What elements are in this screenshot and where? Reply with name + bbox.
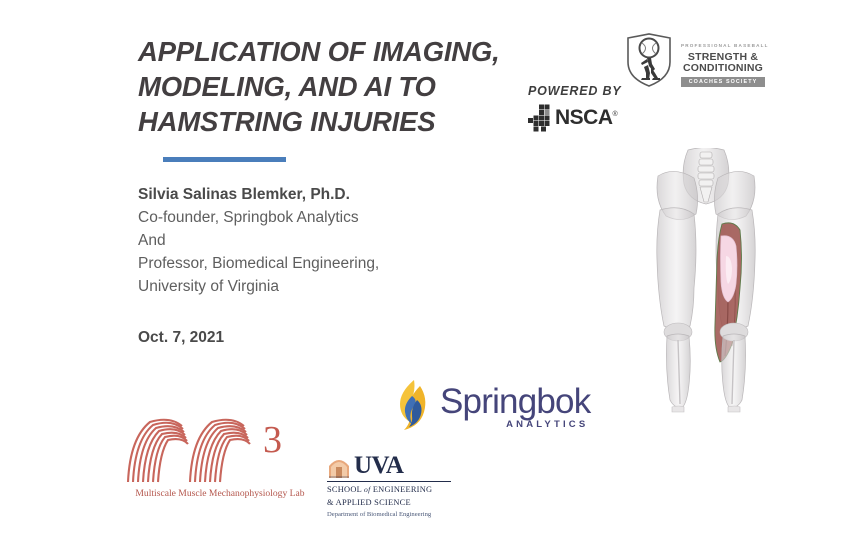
uva-school-line-1: SCHOOL of ENGINEERING bbox=[327, 485, 487, 495]
presenter-conjunction: And bbox=[138, 229, 498, 252]
title-line-2: MODELING, AND AI TO bbox=[138, 69, 558, 104]
uva-rotunda-icon bbox=[327, 453, 351, 478]
presenter-affiliation-3: University of Virginia bbox=[138, 275, 498, 298]
uva-department: Department of Biomedical Engineering bbox=[327, 510, 487, 519]
badge-main-line-2: CONDITIONING bbox=[681, 63, 765, 75]
nsca-blocks-icon bbox=[528, 104, 558, 132]
badge-top-line: PROFESSIONAL BASEBALL bbox=[681, 43, 769, 48]
uva-school-word-1: SCHOOL bbox=[327, 485, 362, 494]
powered-by-block: POWERED BY bbox=[528, 84, 648, 132]
muscle-fiber-m-icon bbox=[120, 408, 270, 491]
title-line-3: HAMSTRING INJURIES bbox=[138, 104, 558, 139]
m3-exponent: 3 bbox=[263, 418, 282, 462]
presentation-date: Oct. 7, 2021 bbox=[138, 329, 224, 347]
presenter-affiliation-2: Professor, Biomedical Engineering, bbox=[138, 252, 498, 275]
presenter-affiliation-1: Co-founder, Springbok Analytics bbox=[138, 206, 498, 229]
badge-ribbon: COACHES SOCIETY bbox=[681, 77, 765, 87]
nsca-wordmark: NSCA® bbox=[555, 106, 617, 130]
uva-logo: UVA SCHOOL of ENGINEERING & APPLIED SCIE… bbox=[327, 453, 487, 519]
title-line-1: APPLICATION OF IMAGING, bbox=[138, 34, 558, 69]
m3-lab-logo: 3 Multiscale Muscle Mechanophysiology La… bbox=[120, 408, 320, 503]
springbok-flame-icon bbox=[390, 378, 434, 434]
uva-top-row: UVA bbox=[327, 453, 487, 478]
presentation-slide: APPLICATION OF IMAGING, MODELING, AND AI… bbox=[0, 0, 854, 540]
baseball-lifter-shield-icon bbox=[623, 32, 675, 88]
nsca-logo: NSCA® bbox=[528, 104, 648, 132]
springbok-name: Springbok bbox=[440, 383, 590, 421]
title-accent-rule bbox=[163, 157, 286, 162]
lower-body-musculoskeletal-model bbox=[636, 148, 776, 413]
strength-conditioning-badge: PROFESSIONAL BASEBALL STRENGTH & CONDITI… bbox=[623, 30, 763, 90]
uva-school-word-of: of bbox=[364, 485, 370, 494]
uva-school-word-2: ENGINEERING bbox=[373, 485, 433, 494]
m3-lab-caption: Multiscale Muscle Mechanophysiology Lab bbox=[122, 488, 318, 499]
uva-divider bbox=[327, 481, 451, 482]
springbok-logo: Springbok ANALYTICS bbox=[390, 378, 590, 434]
uva-letters: UVA bbox=[354, 453, 403, 478]
badge-text-block: PROFESSIONAL BASEBALL STRENGTH & CONDITI… bbox=[681, 34, 765, 87]
page-title: APPLICATION OF IMAGING, MODELING, AND AI… bbox=[138, 34, 558, 139]
presenter-name: Silvia Salinas Blemker, Ph.D. bbox=[138, 184, 498, 206]
uva-school-line-2: & APPLIED SCIENCE bbox=[327, 498, 487, 508]
springbok-wordmark: Springbok ANALYTICS bbox=[440, 383, 590, 430]
nsca-brand-text: NSCA bbox=[555, 106, 613, 129]
nsca-registered-mark: ® bbox=[613, 111, 618, 118]
presenter-block: Silvia Salinas Blemker, Ph.D. Co-founder… bbox=[138, 184, 498, 298]
